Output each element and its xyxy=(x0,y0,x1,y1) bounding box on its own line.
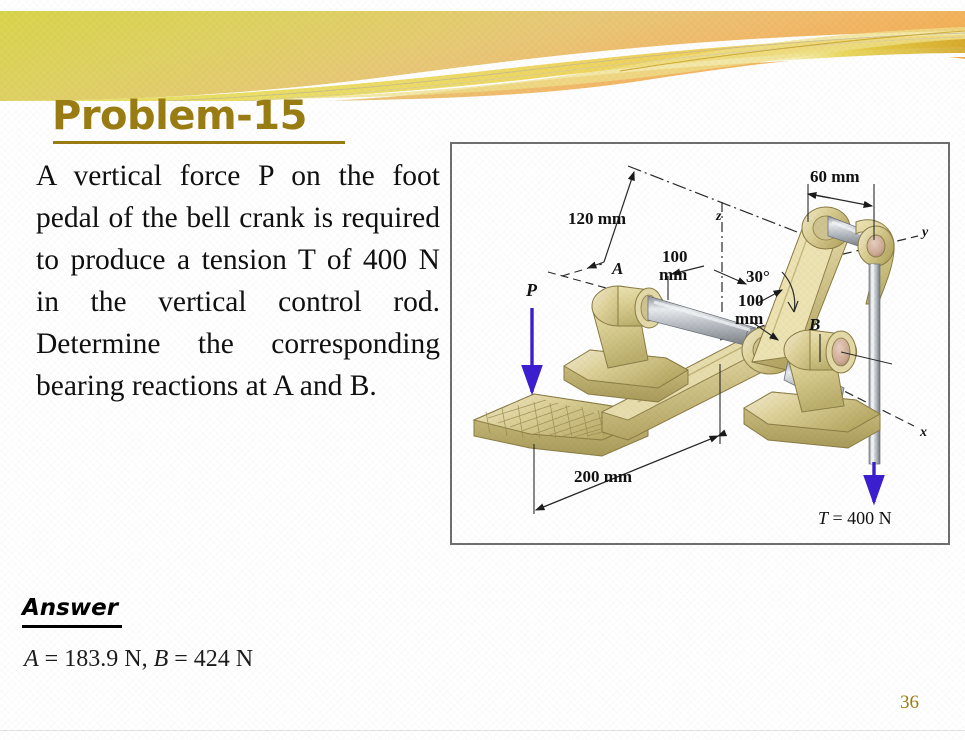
answer-heading-underline xyxy=(22,625,122,628)
axis-y-label: y xyxy=(920,225,929,240)
answer-b-symbol: B xyxy=(154,646,169,672)
answer-separator: , xyxy=(142,646,154,672)
page-title-underline xyxy=(53,141,345,144)
dim-200mm-label: 200 mm xyxy=(574,467,632,486)
page-title: Problem-15 xyxy=(52,93,307,139)
slide: Problem-15 A vertical force P on the foo… xyxy=(0,0,965,740)
top-white-strip xyxy=(0,0,965,11)
dim-120mm-label: 120 mm xyxy=(568,209,626,228)
label-angle-30: 30° xyxy=(746,267,770,286)
dim-100mm-lower-l2: mm xyxy=(735,309,763,328)
label-tension: T = 400 N xyxy=(818,508,892,528)
problem-statement: A vertical force P on the foot pedal of … xyxy=(36,155,440,407)
label-p: P xyxy=(525,280,538,300)
dim-100mm-upper-l2: mm xyxy=(659,265,687,284)
figure-bell-crank: P T = 400 N A B z y x 30° xyxy=(450,142,950,545)
dim-100mm-upper-l1: 100 xyxy=(662,247,688,266)
answer-a-value: 183.9 N xyxy=(64,646,141,672)
page-number: 36 xyxy=(900,692,919,714)
dim-60mm-label: 60 mm xyxy=(810,167,860,186)
footer-divider xyxy=(0,730,965,731)
answer-values: A = 183.9 N, B = 424 N xyxy=(24,646,253,673)
answer-heading: Answer xyxy=(22,595,118,621)
dim-100mm-lower-l1: 100 xyxy=(738,291,764,310)
label-b-text: B xyxy=(808,315,820,334)
answer-eq-2: = xyxy=(174,646,188,672)
slide-header-banner xyxy=(0,9,965,101)
axis-z-label: z xyxy=(715,209,722,224)
answer-eq-1: = xyxy=(45,646,59,672)
centerline-crank xyxy=(628,166,797,232)
axis-x-label: x xyxy=(919,425,927,440)
answer-a-symbol: A xyxy=(24,646,39,672)
answer-b-value: 424 N xyxy=(194,646,253,672)
label-a: A xyxy=(611,259,623,278)
